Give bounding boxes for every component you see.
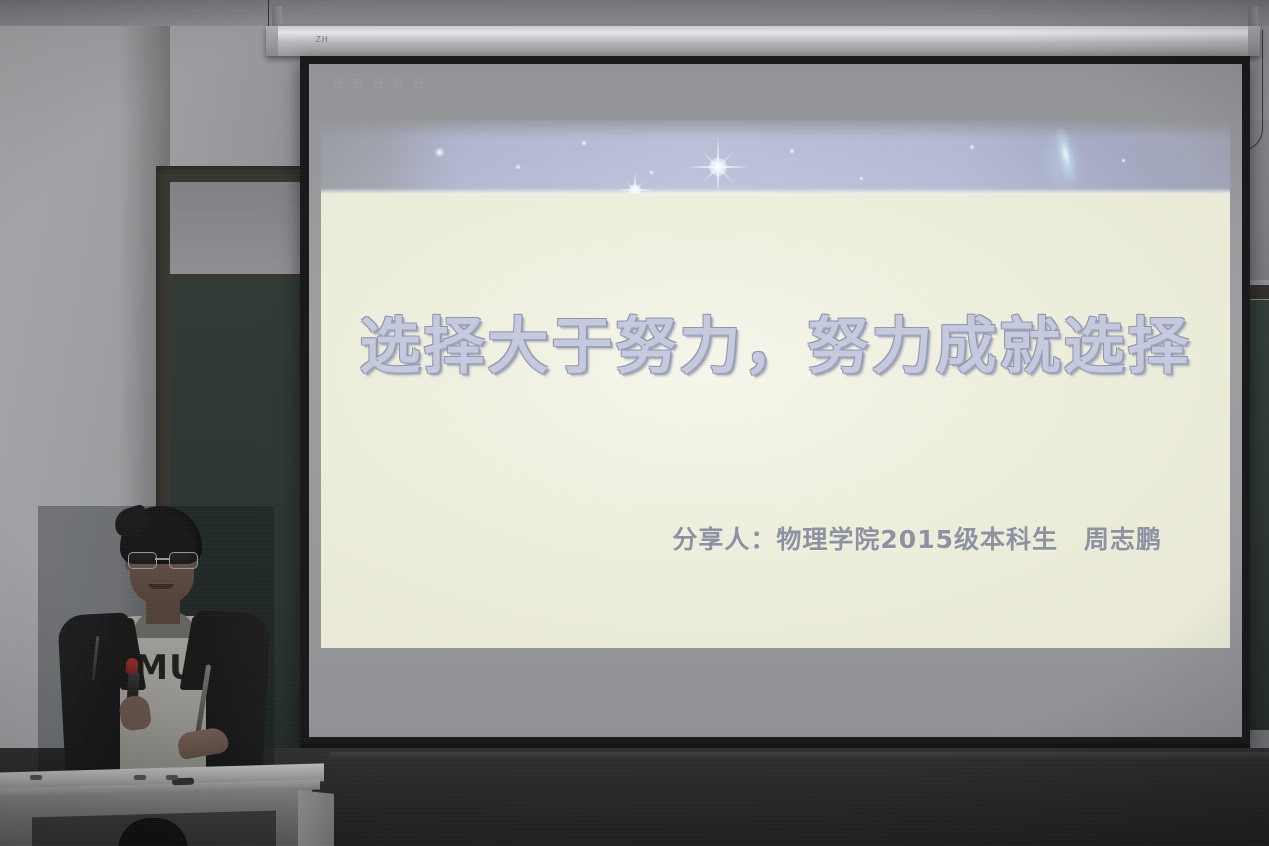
housing-endcap-left [266,26,278,56]
housing-endcap-right [1248,26,1260,56]
lectern-side-panel [298,790,334,846]
glasses-lens-right [169,552,198,569]
star-burst-main-icon [687,136,749,194]
star-faint-a-icon [515,164,521,170]
chalkboard-right-surface [1248,300,1269,730]
lectern-clip-c [166,775,178,780]
projection-screen-frame: a e a o e [300,56,1250,746]
ceiling-strip [0,0,1269,26]
housing-brand-logo: ZH [316,35,329,44]
microphone-head-icon [125,658,138,675]
glasses-icon [126,552,198,568]
presenter: MU [38,506,274,802]
screen-ghost-text: a e a o e [333,72,693,116]
slide-header-banner [321,120,1230,194]
chalkboard-left-upper-panel [170,182,320,274]
photo-scene: ZH a e a o e [0,0,1269,846]
star-faint-c-icon [649,170,654,175]
glasses-lens-left [128,552,157,569]
star-faint-b-icon [581,140,587,146]
star-burst-main-core-icon [709,158,727,176]
slide-subtitle: 分享人：物理学院2015级本科生 周志鹏 [321,520,1230,556]
star-burst-main-diag-icon [685,134,750,194]
chalkboard-right-divider [1248,285,1269,299]
star-faint-f-icon [969,144,975,150]
lectern-clip-a [30,775,42,780]
projection-screen-surface: a e a o e [309,64,1242,737]
screen-roller-housing: ZH [266,26,1260,56]
chalk-rail [330,752,1269,761]
slide-title: 选择大于努力，努力成就选择 [321,296,1230,385]
star-faint-d-icon [789,148,795,154]
mouth [148,582,174,589]
star-small-left-icon [434,147,445,158]
nebula-streak-icon [1024,120,1105,194]
projected-slide: 选择大于努力，努力成就选择 分享人：物理学院2015级本科生 周志鹏 [321,120,1230,648]
star-faint-e-icon [859,176,864,181]
star-faint-g-icon [1121,158,1126,163]
glasses-bridge [155,558,169,560]
banner-bottom-fade [321,188,1230,194]
lectern-clip-b [134,775,146,780]
